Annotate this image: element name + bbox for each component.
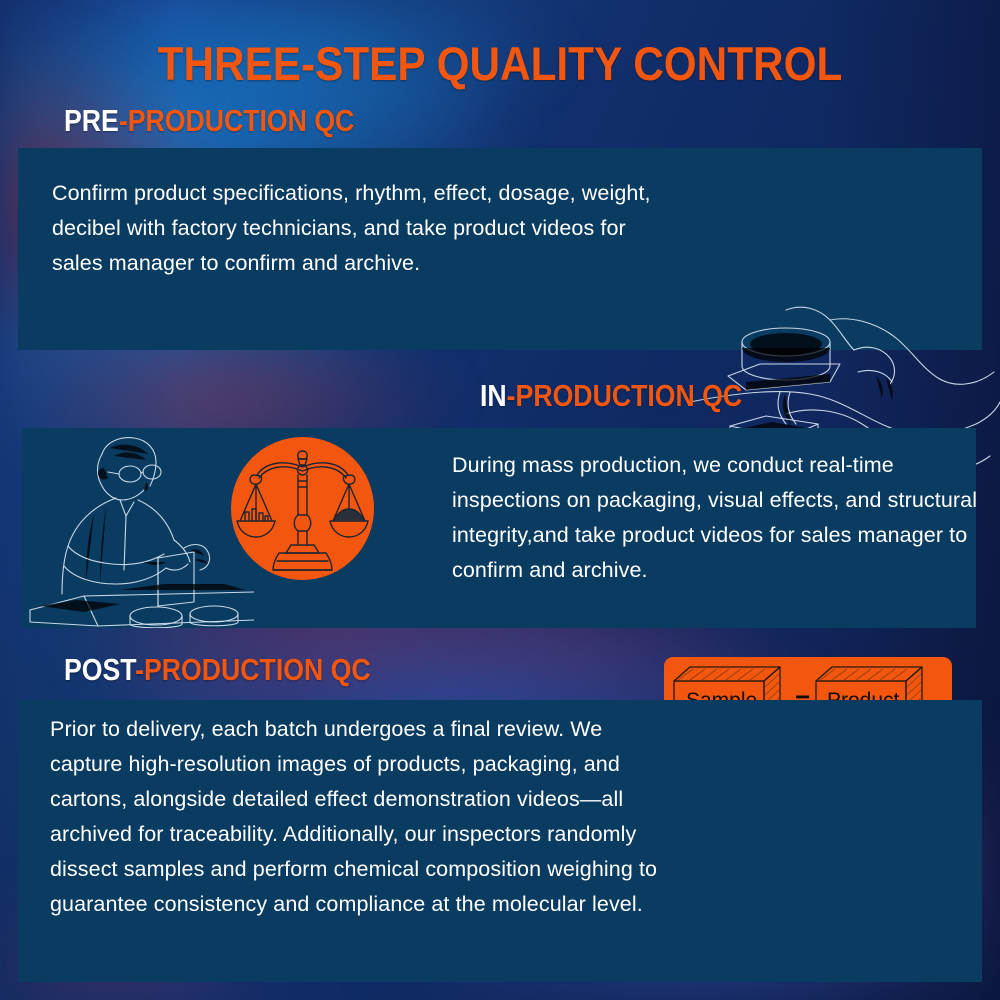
panel-post-production: Prior to delivery, each batch undergoes … (18, 700, 982, 982)
panel-in-production: During mass production, we conduct real-… (22, 428, 976, 628)
heading-pre-production: PRE-PRODUCTION QC (64, 103, 354, 139)
body-text-post-production: Prior to delivery, each batch undergoes … (50, 712, 670, 922)
heading-post-production-lead: POST (64, 652, 135, 687)
panel-pre-production: Confirm product specifications, rhythm, … (18, 148, 982, 350)
heading-pre-production-rest: -PRODUCTION QC (119, 103, 354, 138)
heading-pre-production-lead: PRE (64, 103, 119, 138)
heading-in-production-lead: IN (480, 378, 507, 413)
heading-in-production-rest: -PRODUCTION QC (507, 378, 742, 413)
body-text-pre-production: Confirm product specifications, rhythm, … (52, 176, 652, 281)
balance-scale-icon (231, 437, 374, 580)
heading-in-production: IN-PRODUCTION QC (480, 378, 742, 414)
infographic-poster: THREE-STEP QUALITY CONTROL PRE-PRODUCTIO… (0, 0, 1000, 1000)
heading-post-production: POST-PRODUCTION QC (64, 652, 371, 688)
page-title: THREE-STEP QUALITY CONTROL (50, 36, 950, 91)
heading-post-production-rest: -PRODUCTION QC (135, 652, 370, 687)
body-text-in-production: During mass production, we conduct real-… (452, 448, 997, 588)
